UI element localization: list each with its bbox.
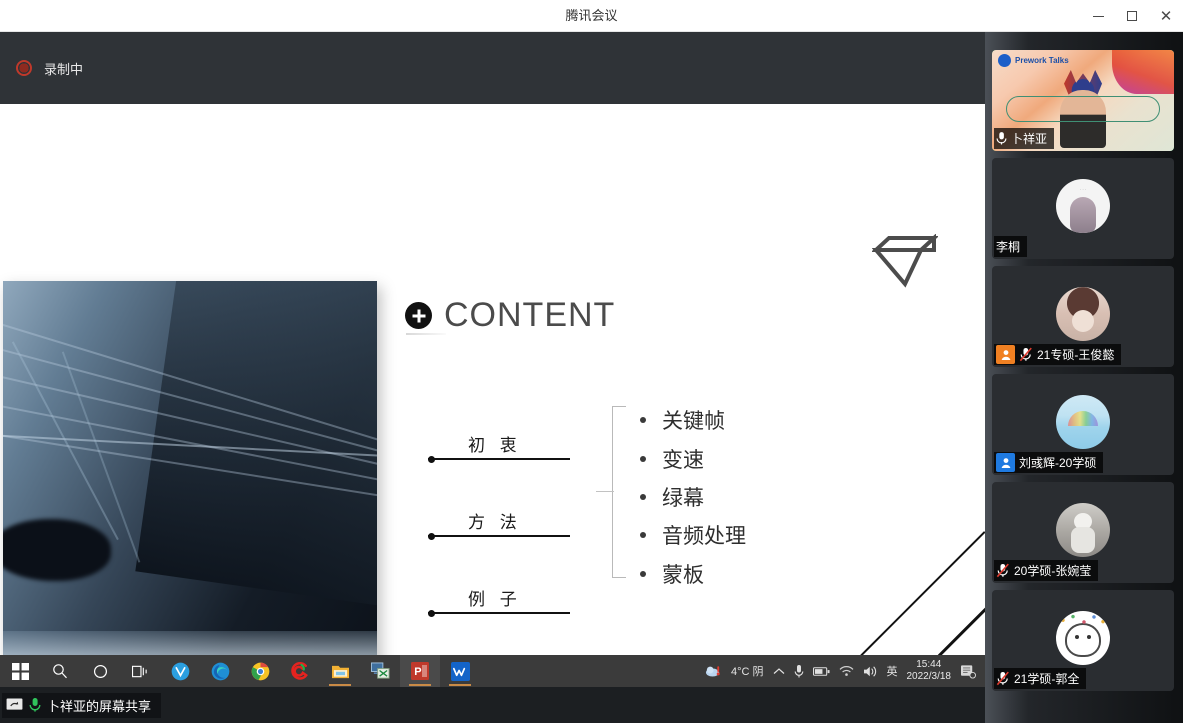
chrome-icon: [251, 662, 270, 681]
host-badge-icon: [996, 453, 1015, 472]
participant-name-chip: 21学硕-郭全: [994, 668, 1086, 689]
recording-bar: 录制中: [0, 32, 985, 104]
section-label: 方 法: [468, 508, 522, 533]
mic-on-icon: [29, 697, 41, 713]
mic-tray-icon[interactable]: [794, 664, 804, 679]
participant-name-chip: 21专硕-王俊懿: [994, 344, 1121, 365]
avatar: . . .: [1056, 179, 1110, 233]
maximize-button[interactable]: [1115, 0, 1149, 32]
section-label: 例 子: [468, 585, 522, 610]
photo-dark-shape: [3, 519, 111, 581]
bullet-label: 音频处理: [662, 520, 746, 550]
title-bar: 腾讯会议 ✕: [0, 0, 1183, 32]
list-item: 例 子: [428, 545, 570, 622]
section-dot: [428, 533, 435, 540]
clock-date: 2022/3/18: [907, 671, 952, 683]
bullet-dot: [640, 417, 646, 423]
host-badge-icon: [996, 345, 1015, 364]
shared-desktop: CONTENT 初 衷 方 法: [0, 104, 985, 655]
avatar: [1056, 395, 1110, 449]
participant-name: 21学硕-郭全: [1014, 670, 1079, 687]
list-item: 绿幕: [640, 478, 746, 516]
slide-title: CONTENT: [405, 296, 615, 335]
participant-name-chip: 刘彧辉-20学硕: [994, 452, 1103, 473]
start-button[interactable]: [0, 655, 40, 687]
participant-tile-zhangwanying[interactable]: 20学硕-张婉莹: [992, 482, 1174, 583]
avatar-suit: [1071, 527, 1095, 553]
section-rule: [428, 612, 570, 614]
close-button[interactable]: ✕: [1149, 0, 1183, 32]
bullet-dot: [640, 571, 646, 577]
meeting-body: 录制中: [0, 32, 1183, 723]
windows-taskbar: P 4°C 阴: [0, 655, 985, 687]
share-status-bar: 卜祥亚的屏幕共享: [0, 687, 985, 723]
list-item: 方 法: [428, 468, 570, 545]
tencent-meeting-icon: [171, 662, 190, 681]
mic-on-icon: [996, 131, 1007, 146]
avatar-hair: [1070, 197, 1096, 233]
participant-tile-buxiangya[interactable]: Prework Talks 卜祥亚: [992, 50, 1174, 151]
ime-indicator[interactable]: 英: [887, 663, 898, 679]
bullet-dot: [640, 532, 646, 538]
participant-name-chip: 20学硕-张婉莹: [994, 560, 1098, 581]
participant-name-chip: 卜祥亚: [994, 128, 1054, 149]
maximize-icon: [1127, 11, 1137, 21]
slide-bullet-list: 关键帧 变速 绿幕 音频处理: [640, 401, 746, 593]
section-dot: [428, 456, 435, 463]
participant-name-chip: 李桐: [994, 236, 1027, 257]
photo-water-reflection: [3, 631, 377, 655]
participant-name: 20学硕-张婉莹: [1014, 562, 1091, 579]
participant-tile-wangjunyi[interactable]: 21专硕-王俊懿: [992, 266, 1174, 367]
bullet-label: 变速: [662, 444, 704, 474]
360-browser-task[interactable]: [280, 655, 320, 687]
svg-text:P: P: [414, 666, 421, 678]
decor-line: [860, 531, 985, 655]
weather-label[interactable]: 4°C 阴: [731, 663, 764, 679]
list-item: 蒙板: [640, 555, 746, 593]
avatar-confetti: [1058, 613, 1108, 631]
360-browser-icon: [291, 662, 310, 681]
avatar: [1056, 611, 1110, 665]
participant-tile-liuyuhui[interactable]: 刘彧辉-20学硕: [992, 374, 1174, 475]
powerpoint-icon: P: [411, 662, 429, 680]
task-view-button[interactable]: [120, 655, 160, 687]
avatar: [1056, 503, 1110, 557]
share-status-chip[interactable]: 卜祥亚的屏幕共享: [2, 693, 161, 718]
bracket-stem: [596, 491, 614, 492]
participant-tile-litong[interactable]: . . . 李桐: [992, 158, 1174, 259]
participant-name: 21专硕-王俊懿: [1037, 346, 1114, 363]
battery-icon[interactable]: [813, 666, 830, 677]
list-item: 变速: [640, 439, 746, 477]
chevron-up-icon[interactable]: [773, 667, 785, 676]
powerpoint-task[interactable]: P: [400, 655, 440, 687]
list-item: 关键帧: [640, 401, 746, 439]
participant-name: 刘彧辉-20学硕: [1019, 454, 1096, 471]
system-tray: 4°C 阴 英: [705, 655, 985, 687]
cortana-icon: [93, 664, 108, 679]
bracket-shape: [612, 406, 626, 578]
recording-label: 录制中: [44, 59, 83, 78]
bullet-label: 绿幕: [662, 482, 704, 512]
clock-time: 15:44: [907, 659, 952, 671]
video-decor: [1112, 50, 1174, 94]
chrome-task[interactable]: [240, 655, 280, 687]
notification-icon[interactable]: [960, 664, 977, 679]
participants-panel[interactable]: Prework Talks 卜祥亚 . . . 李桐: [985, 32, 1183, 723]
section-rule: [428, 535, 570, 537]
section-dot: [428, 610, 435, 617]
section-label: 初 衷: [468, 431, 522, 456]
bullet-dot: [640, 456, 646, 462]
screen-share-icon: [6, 698, 23, 712]
participant-name: 李桐: [996, 238, 1020, 255]
remote-desktop-icon: [371, 662, 390, 680]
avatar-text: . . .: [1080, 186, 1086, 191]
slide-section-list: 初 衷 方 法 例 子: [428, 391, 570, 622]
avatar-rainbow: [1068, 411, 1098, 426]
mic-muted-icon: [996, 671, 1010, 686]
folder-icon: [331, 663, 350, 680]
section-rule: [428, 458, 570, 460]
weather-icon[interactable]: [705, 664, 722, 678]
bullet-label: 关键帧: [662, 405, 725, 435]
bullet-label: 蒙板: [662, 559, 704, 589]
list-item: 音频处理: [640, 516, 746, 554]
video-logo: Prework Talks: [998, 54, 1069, 67]
remote-desktop-task[interactable]: [360, 655, 400, 687]
share-status-label: 卜祥亚的屏幕共享: [47, 696, 151, 715]
decor-line: [938, 594, 985, 655]
powerpoint-slide: CONTENT 初 衷 方 法: [0, 104, 985, 655]
search-icon: [52, 663, 68, 679]
slide-title-text: CONTENT: [444, 296, 615, 335]
avatar-eye: [1087, 635, 1091, 639]
list-item: 初 衷: [428, 391, 570, 468]
windows-logo-icon: [12, 663, 29, 680]
edge-task[interactable]: [200, 655, 240, 687]
participant-tile-guoquan[interactable]: 21学硕-郭全: [992, 590, 1174, 691]
minimize-button[interactable]: [1081, 0, 1115, 32]
search-button[interactable]: [40, 655, 80, 687]
avatar: [1056, 287, 1110, 341]
window-title: 腾讯会议: [0, 0, 1183, 32]
participant-name: 卜祥亚: [1011, 130, 1047, 147]
volume-icon[interactable]: [863, 665, 878, 678]
close-icon: ✕: [1160, 9, 1173, 24]
file-explorer-task[interactable]: [320, 655, 360, 687]
mic-muted-icon: [996, 563, 1010, 578]
task-view-icon: [132, 664, 149, 679]
cortana-button[interactable]: [80, 655, 120, 687]
window-controls: ✕: [1081, 0, 1183, 32]
wifi-icon[interactable]: [839, 665, 854, 677]
video-text-frame: [1006, 96, 1160, 122]
edge-icon: [211, 662, 230, 681]
tencent-meeting-task[interactable]: [160, 655, 200, 687]
shared-screen-region: 录制中: [0, 32, 985, 723]
wps-icon: [451, 662, 470, 681]
clock[interactable]: 15:44 2022/3/18: [907, 659, 952, 683]
bullet-dot: [640, 494, 646, 500]
tencent-meeting-window: 腾讯会议 ✕ 录制中: [0, 0, 1183, 723]
avatar-face: [1072, 310, 1094, 332]
minimize-icon: [1093, 16, 1104, 17]
plus-icon: [405, 302, 432, 329]
wps-task[interactable]: [440, 655, 480, 687]
gem-s-logo-icon: [872, 234, 938, 289]
mic-muted-icon: [1019, 347, 1033, 362]
recording-indicator-icon: [16, 60, 32, 76]
avatar-eye: [1075, 635, 1079, 639]
video-logo-text: Prework Talks: [1015, 56, 1069, 65]
slide-photo: [3, 281, 377, 655]
